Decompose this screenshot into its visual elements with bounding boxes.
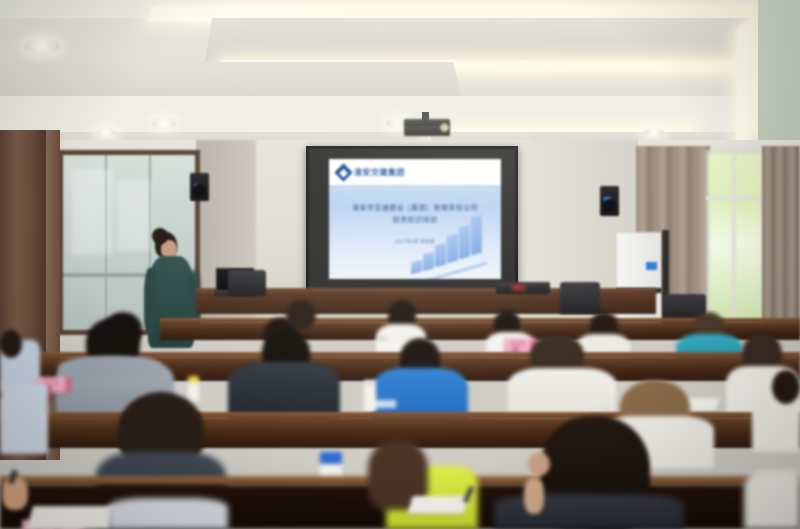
company-logo-icon	[334, 163, 352, 181]
downlight-1	[24, 38, 60, 54]
presenter-hair-bun	[152, 228, 168, 244]
speaker-grille-right	[603, 199, 616, 212]
brown-drapes-right	[762, 146, 800, 336]
bottle-label	[188, 385, 199, 397]
exterior-window	[706, 150, 766, 336]
attendee-ponytail-foreground-body	[494, 494, 684, 529]
water-bottle-far-right	[364, 380, 376, 412]
console-indicator	[512, 285, 525, 290]
wall-speaker-left	[190, 173, 209, 201]
name-card-fold	[65, 377, 71, 393]
name-card-heading: 淮安交建	[504, 340, 532, 345]
chart-bar-5	[459, 225, 470, 260]
window-mullion	[732, 150, 736, 336]
bottle-label	[364, 391, 376, 406]
projected-slide: 淮安交建集团 淮安市交通建设（集团）有限责任公司 财务知识培训 2017年5月 …	[329, 159, 501, 279]
posted-sheet-1	[71, 169, 113, 255]
attendee-light-blue-head	[0, 330, 22, 358]
chart-bar-6	[471, 215, 482, 256]
chart-bar-4	[447, 234, 458, 264]
front-chair-2	[560, 282, 600, 314]
chart-bar-1	[411, 260, 422, 275]
chart-bar-2	[423, 252, 434, 272]
projector-lens-icon	[440, 123, 449, 132]
bottle-cap	[364, 380, 376, 387]
chart-bar-3	[435, 243, 446, 268]
bottle-cap	[320, 452, 342, 464]
bottle-cap	[378, 336, 387, 341]
yellow-cap-bottle	[188, 376, 199, 402]
slide-title-line1: 淮安市交通建设（集团）有限责任公司	[329, 203, 501, 215]
speaker-grille-left	[193, 184, 206, 197]
attendee-white-blouse-head	[772, 370, 800, 404]
attendee-hand-left	[2, 476, 28, 510]
slide-header-bar: 淮安交建集团	[329, 159, 501, 185]
attendee-ponytail-ear	[528, 452, 550, 476]
ceiling	[0, 0, 800, 152]
slide-bar-chart-graphic	[409, 225, 495, 277]
attendee-right-foreground-body	[744, 470, 800, 529]
front-chair-1	[228, 270, 266, 296]
window-transom	[706, 196, 766, 200]
name-card-mid-right: 淮安交建 王 芳	[504, 338, 532, 353]
wall-speaker-right	[600, 186, 619, 216]
attendee-row1-head-a	[286, 300, 316, 330]
bottle-cap	[188, 376, 199, 382]
handout-front-left	[27, 506, 115, 529]
attendee-pale-blue-left	[0, 384, 48, 454]
ceiling-right-panel	[758, 0, 800, 152]
cabinet-label-badge	[646, 262, 657, 270]
presenter-arm-left	[144, 268, 157, 334]
attendee-gray-hoodie-hood	[58, 356, 162, 378]
handout-center	[407, 496, 468, 514]
projection-screen: 淮安交建集团 淮安市交通建设（集团）有限责任公司 财务知识培训 2017年5月 …	[306, 146, 518, 292]
slide-logo-text: 淮安交建集团	[354, 167, 405, 178]
attendee-hand-right	[524, 478, 544, 514]
meeting-room-photo: 淮安交建集团 淮安市交通建设（集团）有限责任公司 财务知识培训 2017年5月 …	[0, 0, 800, 529]
downlight-5	[644, 128, 664, 137]
white-storage-cabinet	[616, 232, 662, 330]
downlight-3	[96, 128, 116, 137]
posted-sheet-2	[117, 181, 151, 251]
downlight-2	[152, 118, 176, 129]
attendee-foreground-left-body	[108, 498, 228, 529]
